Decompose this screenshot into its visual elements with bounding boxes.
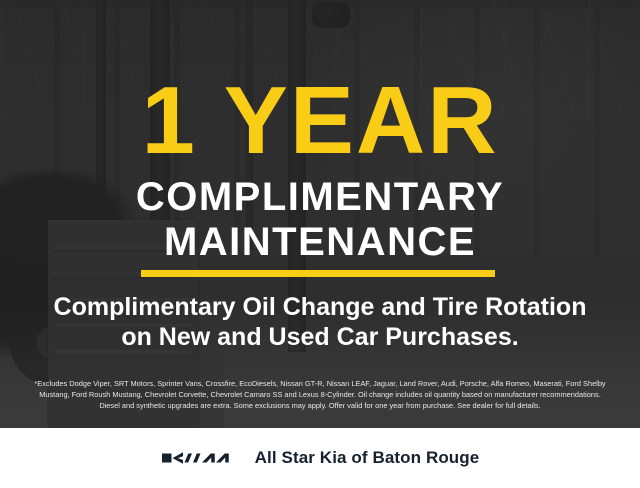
promo-text-line-1: Complimentary Oil Change and Tire Rotati… — [0, 292, 640, 322]
promo-text-line-2: on New and Used Car Purchases. — [0, 322, 640, 352]
disclaimer-line-3: Diesel and synthetic upgrades are extra.… — [14, 400, 626, 411]
disclaimer-line-1: *Excludes Dodge Viper, SRT Motors, Sprin… — [14, 378, 626, 389]
accent-divider-bar — [141, 270, 495, 277]
dealer-name: All Star Kia of Baton Rouge — [255, 448, 480, 468]
kia-logo — [161, 448, 237, 468]
banner-copy: 1 YEAR COMPLIMENTARY MAINTENANCE Complim… — [0, 0, 640, 428]
promotional-banner: 1 YEAR COMPLIMENTARY MAINTENANCE Complim… — [0, 0, 640, 488]
footer-bar: All Star Kia of Baton Rouge — [0, 428, 640, 488]
headline-year: 1 YEAR — [0, 73, 640, 169]
headline-maintenance: MAINTENANCE — [0, 222, 640, 262]
headline-complimentary: COMPLIMENTARY — [0, 177, 640, 217]
hero-section: 1 YEAR COMPLIMENTARY MAINTENANCE Complim… — [0, 0, 640, 428]
disclaimer-text: *Excludes Dodge Viper, SRT Motors, Sprin… — [14, 378, 626, 411]
disclaimer-line-2: Mustang, Ford Roush Mustang, Chevrolet C… — [14, 389, 626, 400]
